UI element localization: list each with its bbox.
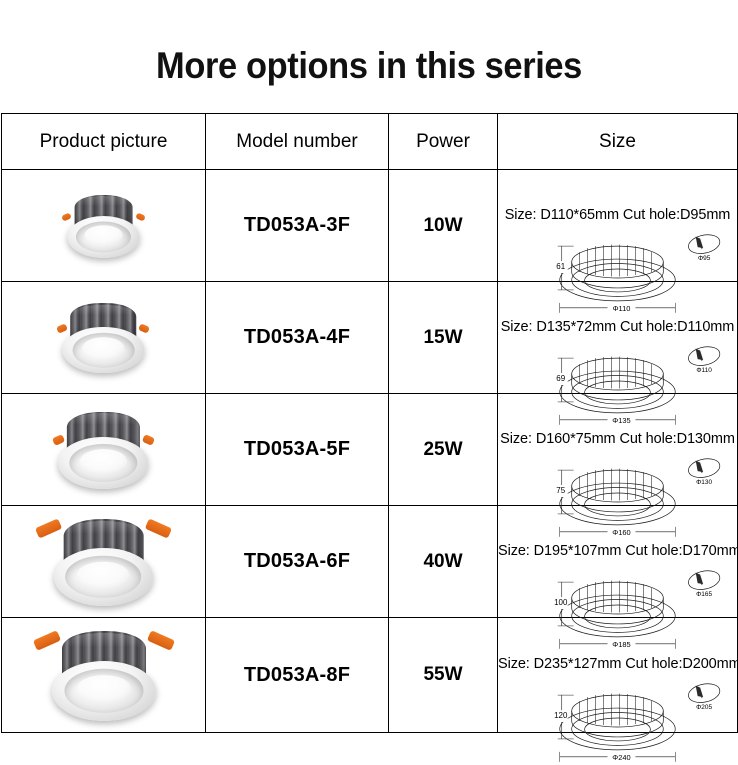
table-row: TD053A-5F 25W (2, 394, 738, 506)
cell-product-picture (2, 282, 206, 394)
lens (80, 449, 127, 473)
dimension-drawing: 120 Φ240 Φ205 (498, 677, 737, 765)
page-title: More options in this series (26, 44, 712, 88)
trim-ring (54, 548, 154, 606)
cell-product-picture (2, 394, 206, 506)
cell-model-number: TD053A-6F (206, 506, 389, 618)
table-header-row: Product picture Model number Power Size (2, 114, 738, 170)
lens (85, 225, 123, 244)
product-photo-lamp (42, 517, 165, 605)
dimension-cut-hole: Φ205 (696, 704, 712, 711)
cell-size: 61 Φ110 Φ95 Size: D110*65mm Cut hole:D95… (498, 170, 738, 282)
spring-clip-left (61, 213, 72, 222)
spring-clip-left (52, 434, 65, 446)
dimension-diameter: Φ240 (612, 753, 630, 762)
cell-size: 120 Φ240 Φ205 Size: D235*127mm Cut hole:… (498, 618, 738, 733)
table-row: TD053A-3F 10W (2, 170, 738, 282)
dimension-cut-hole: Φ165 (696, 591, 712, 598)
spring-clip-left (32, 630, 60, 651)
trim-ring (67, 216, 140, 258)
cell-power: 55W (389, 618, 498, 733)
cell-power: 40W (389, 506, 498, 618)
spring-clip-right (142, 434, 155, 446)
trim-ring (63, 327, 144, 374)
dimension-cut-hole: Φ130 (696, 479, 712, 486)
product-photo-lamp (48, 410, 158, 489)
cell-size: 100 Φ185 Φ165 Size: D195*107mm Cut hole:… (498, 506, 738, 618)
cell-size: 69 Φ135 Φ110 Size: D135*72mm Cut hole:D1… (498, 282, 738, 394)
lens (82, 337, 124, 359)
dimension-height: 61 (556, 262, 565, 271)
trim-ring (52, 661, 156, 721)
dimension-height: 75 (556, 486, 565, 495)
cell-product-picture (2, 170, 206, 282)
cell-power: 15W (389, 282, 498, 394)
dimension-height: 100 (554, 598, 568, 607)
product-photo (2, 517, 205, 605)
spring-clip-right (135, 213, 146, 222)
size-caption: Size: D160*75mm Cut hole:D130mm (498, 431, 737, 447)
product-photo (2, 629, 205, 721)
column-header-product-picture: Product picture (2, 114, 206, 170)
column-header-model-number: Model number (206, 114, 389, 170)
spring-clip-right (138, 323, 150, 334)
product-spec-table: Product picture Model number Power Size … (1, 113, 738, 733)
dimension-cut-hole: Φ95 (698, 255, 711, 262)
product-photo-lamp (54, 302, 154, 374)
table-row: TD053A-4F 15W (2, 282, 738, 394)
cell-power: 25W (389, 394, 498, 506)
spring-clip-left (56, 323, 68, 334)
size-caption: Size: D110*65mm Cut hole:D95mm (498, 207, 737, 223)
cell-power: 10W (389, 170, 498, 282)
size-caption: Size: D195*107mm Cut hole:D170mm (498, 543, 737, 559)
cell-product-picture (2, 506, 206, 618)
cell-model-number: TD053A-4F (206, 282, 389, 394)
spring-clip-right (145, 518, 172, 538)
dimension-height: 69 (556, 374, 565, 383)
product-photo (2, 410, 205, 489)
product-photo (2, 193, 205, 257)
table-body: TD053A-3F 10W (2, 170, 738, 733)
product-photo (2, 302, 205, 374)
cell-model-number: TD053A-3F (206, 170, 389, 282)
product-photo-lamp (59, 193, 149, 257)
trim-ring (59, 437, 148, 489)
spring-clip-left (35, 518, 62, 538)
column-header-size: Size (498, 114, 738, 170)
cell-size: 75 Φ160 Φ130 Size: D160*75mm Cut hole:D1… (498, 394, 738, 506)
product-photo-lamp (40, 629, 168, 721)
spring-clip-right (146, 630, 174, 651)
cell-model-number: TD053A-5F (206, 394, 389, 506)
table-row: TD053A-6F 40W (2, 506, 738, 618)
column-header-power: Power (389, 114, 498, 170)
lens (76, 675, 130, 703)
size-caption: Size: D235*127mm Cut hole:D200mm (498, 656, 737, 672)
cell-product-picture (2, 618, 206, 733)
cell-model-number: TD053A-8F (206, 618, 389, 733)
dimension-height: 120 (554, 711, 568, 720)
table-row: TD053A-8F 55W (2, 618, 738, 733)
size-caption: Size: D135*72mm Cut hole:D110mm (498, 319, 737, 335)
dimension-cut-hole: Φ110 (696, 367, 712, 374)
